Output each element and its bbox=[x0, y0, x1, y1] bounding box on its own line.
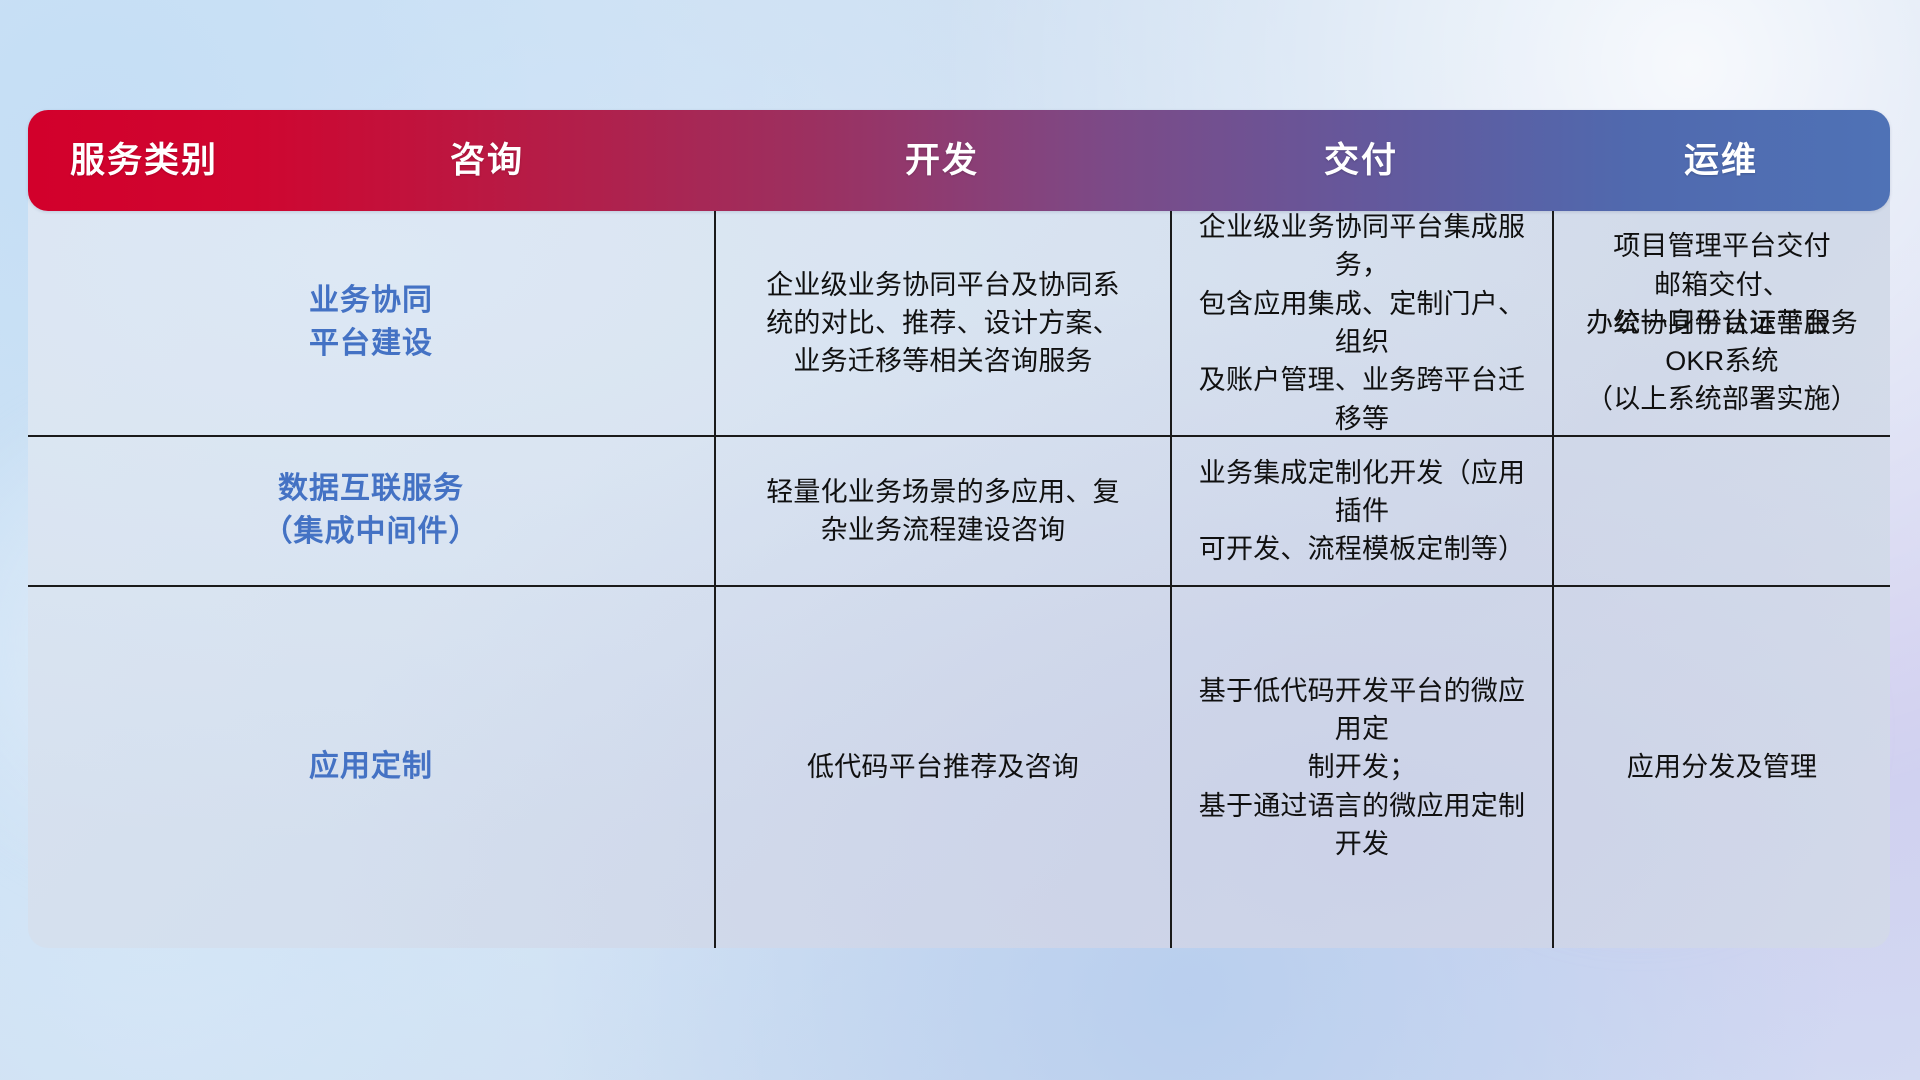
cell-operations-r2-wrap bbox=[1554, 437, 1890, 585]
table-row: 数据互联服务 （集成中间件） bbox=[28, 437, 714, 585]
cell-consulting-r1-wrap: 企业级业务协同平台及协同系 统的对比、推荐、设计方案、 业务迁移等相关咨询服务 bbox=[716, 211, 1170, 435]
cell-operations-r1-wrap: 办公协同平台运营服务 bbox=[1554, 211, 1890, 435]
cell-consulting-r1: 企业级业务协同平台及协同系 统的对比、推荐、设计方案、 业务迁移等相关咨询服务 bbox=[766, 266, 1120, 381]
cell-development-r1-wrap: 企业级业务协同平台集成服务， 包含应用集成、定制门户、组织 及账户管理、业务跨平… bbox=[1172, 211, 1552, 435]
cell-development-r2: 业务集成定制化开发（应用插件 可开发、流程模板定制等） bbox=[1186, 454, 1538, 569]
column-header-operations: 运维 bbox=[1552, 143, 1890, 178]
cell-operations-r3-wrap bbox=[1554, 587, 1890, 948]
cell-category-r1: 业务协同 平台建设 bbox=[309, 280, 433, 365]
column-header-consulting: 咨询 bbox=[260, 143, 714, 178]
cell-operations-r1: 办公协同平台运营服务 bbox=[1586, 304, 1858, 342]
table-header-row: 服务类别 咨询 开发 交付 运维 bbox=[28, 110, 1890, 211]
cell-category-r2: 数据互联服务 （集成中间件） bbox=[263, 468, 480, 553]
column-header-category: 服务类别 bbox=[28, 143, 260, 178]
cell-consulting-r2: 轻量化业务场景的多应用、复 杂业务流程建设咨询 bbox=[766, 473, 1120, 550]
cell-development-r2-wrap: 业务集成定制化开发（应用插件 可开发、流程模板定制等） bbox=[1172, 437, 1552, 585]
column-header-delivery: 交付 bbox=[1170, 143, 1552, 178]
table-row: 应用定制 bbox=[28, 587, 714, 948]
cell-development-r1: 企业级业务协同平台集成服务， 包含应用集成、定制门户、组织 及账户管理、业务跨平… bbox=[1186, 208, 1538, 438]
cell-development-r3-wrap: 基于低代码开发平台的微应用定 制开发； 基于通过语言的微应用定制开发 bbox=[1172, 587, 1552, 948]
cell-category-r3: 应用定制 bbox=[309, 746, 433, 789]
cell-consulting-r3: 低代码平台推荐及咨询 bbox=[807, 748, 1079, 786]
cell-development-r3: 基于低代码开发平台的微应用定 制开发； 基于通过语言的微应用定制开发 bbox=[1186, 672, 1538, 864]
cell-consulting-r2-wrap: 轻量化业务场景的多应用、复 杂业务流程建设咨询 bbox=[716, 437, 1170, 585]
column-header-development: 开发 bbox=[714, 143, 1170, 178]
table-row: 业务协同 平台建设 bbox=[28, 211, 714, 435]
cell-consulting-r3-wrap: 低代码平台推荐及咨询 bbox=[716, 587, 1170, 948]
